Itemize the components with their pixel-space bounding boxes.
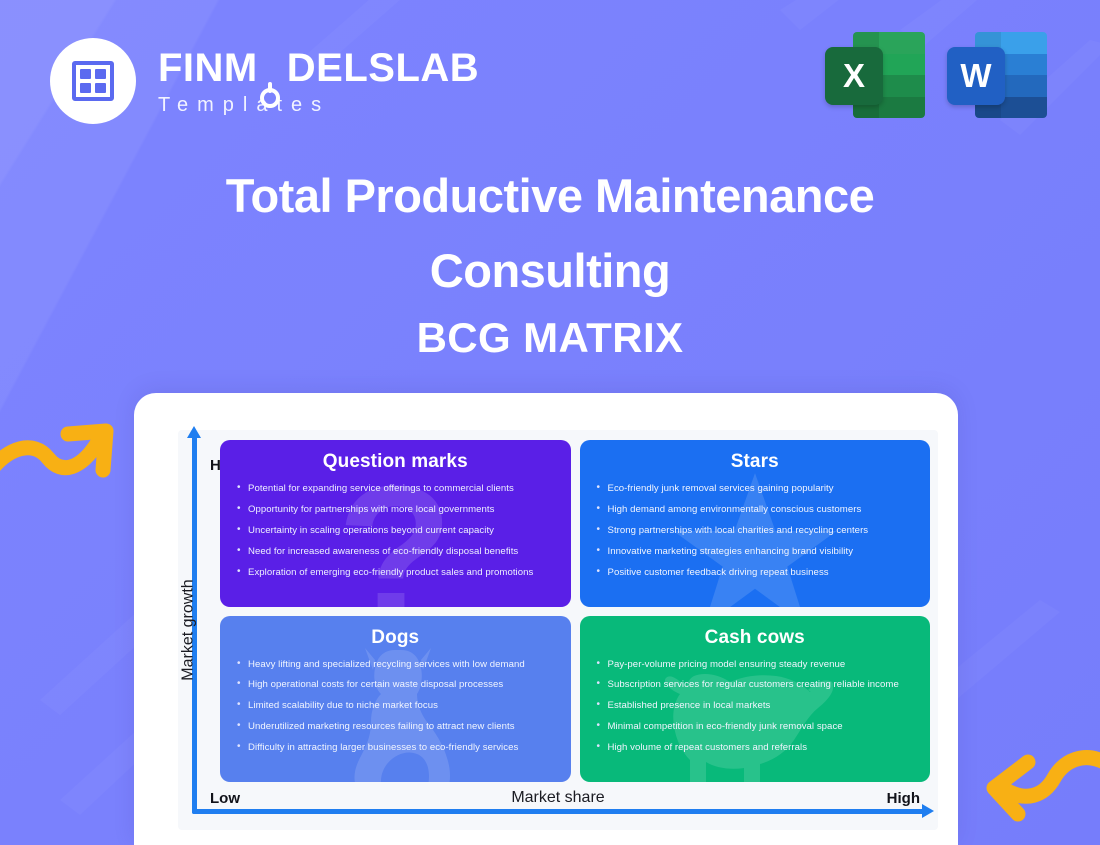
list-item: Exploration of emerging eco-friendly pro… (248, 567, 557, 579)
brand-name-pre: FINM (158, 46, 258, 90)
list-item: Opportunity for partnerships with more l… (248, 504, 557, 516)
bcg-matrix-panel: High Low High Market share Market growth… (178, 430, 938, 830)
title-line-2: Consulting (0, 233, 1100, 308)
bcg-matrix-card: High Low High Market share Market growth… (134, 393, 958, 845)
office-format-badges: X W (825, 28, 1047, 122)
quadrant-bullet-list: Eco-friendly junk removal services gaini… (594, 483, 917, 579)
title-line-1: Total Productive Maintenance (0, 158, 1100, 233)
brand-logo: FINMDELSLAB Templates (50, 38, 479, 124)
list-item: Limited scalability due to niche market … (248, 700, 557, 712)
quadrant-title: Dogs (234, 627, 557, 649)
list-item: Subscription services for regular custom… (608, 679, 917, 691)
grid-square-icon (72, 61, 114, 101)
slide-root: FINMDELSLAB Templates X W Total Producti… (0, 0, 1100, 845)
list-item: High volume of repeat customers and refe… (608, 742, 917, 754)
brand-tagline: Templates (158, 95, 479, 115)
list-item: High operational costs for certain waste… (248, 679, 557, 691)
quadrant-grid: ? Question marks Potential for expanding… (220, 440, 930, 782)
word-letter: W (947, 47, 1005, 105)
quadrant-title: Question marks (234, 451, 557, 473)
list-item: Eco-friendly junk removal services gaini… (608, 483, 917, 495)
logo-mark (50, 38, 136, 124)
list-item: Pay-per-volume pricing model ensuring st… (608, 659, 917, 671)
excel-icon: X (825, 28, 925, 122)
list-item: Strong partnerships with local charities… (608, 525, 917, 537)
decorative-arrow-left-icon (0, 404, 126, 499)
brand-text: FINMDELSLAB Templates (158, 48, 479, 115)
list-item: Difficulty in attracting larger business… (248, 742, 557, 754)
list-item: Underutilized marketing resources failin… (248, 721, 557, 733)
brand-name: FINMDELSLAB (158, 48, 479, 88)
list-item: High demand among environmentally consci… (608, 504, 917, 516)
page-title: Total Productive Maintenance Consulting … (0, 158, 1100, 362)
list-item: Heavy lifting and specialized recycling … (248, 659, 557, 671)
list-item: Need for increased awareness of eco-frie… (248, 546, 557, 558)
quadrant-bullet-list: Potential for expanding service offering… (234, 483, 557, 579)
list-item: Positive customer feedback driving repea… (608, 567, 917, 579)
quadrant-title: Cash cows (594, 627, 917, 649)
quadrant-cash-cows[interactable]: Cash cows Pay-per-volume pricing model e… (580, 616, 931, 783)
list-item: Potential for expanding service offering… (248, 483, 557, 495)
quadrant-dogs[interactable]: Dogs Heavy lifting and specialized recyc… (220, 616, 571, 783)
x-axis-arrow (192, 809, 924, 814)
list-item: Established presence in local markets (608, 700, 917, 712)
brand-name-post: DELSLAB (287, 46, 479, 90)
title-line-3: BCG MATRIX (0, 314, 1100, 362)
list-item: Innovative marketing strategies enhancin… (608, 546, 917, 558)
x-axis-title: Market share (178, 789, 938, 807)
list-item: Uncertainty in scaling operations beyond… (248, 525, 557, 537)
quadrant-question-marks[interactable]: ? Question marks Potential for expanding… (220, 440, 571, 607)
excel-letter: X (825, 47, 883, 105)
quadrant-title: Stars (594, 451, 917, 473)
list-item: Minimal competition in eco-friendly junk… (608, 721, 917, 733)
quadrant-bullet-list: Heavy lifting and specialized recycling … (234, 659, 557, 755)
quadrant-stars[interactable]: Stars Eco-friendly junk removal services… (580, 440, 931, 607)
y-axis-title: Market growth (180, 579, 198, 680)
quadrant-bullet-list: Pay-per-volume pricing model ensuring st… (594, 659, 917, 755)
word-icon: W (947, 28, 1047, 122)
decorative-arrow-right-icon (966, 744, 1100, 839)
